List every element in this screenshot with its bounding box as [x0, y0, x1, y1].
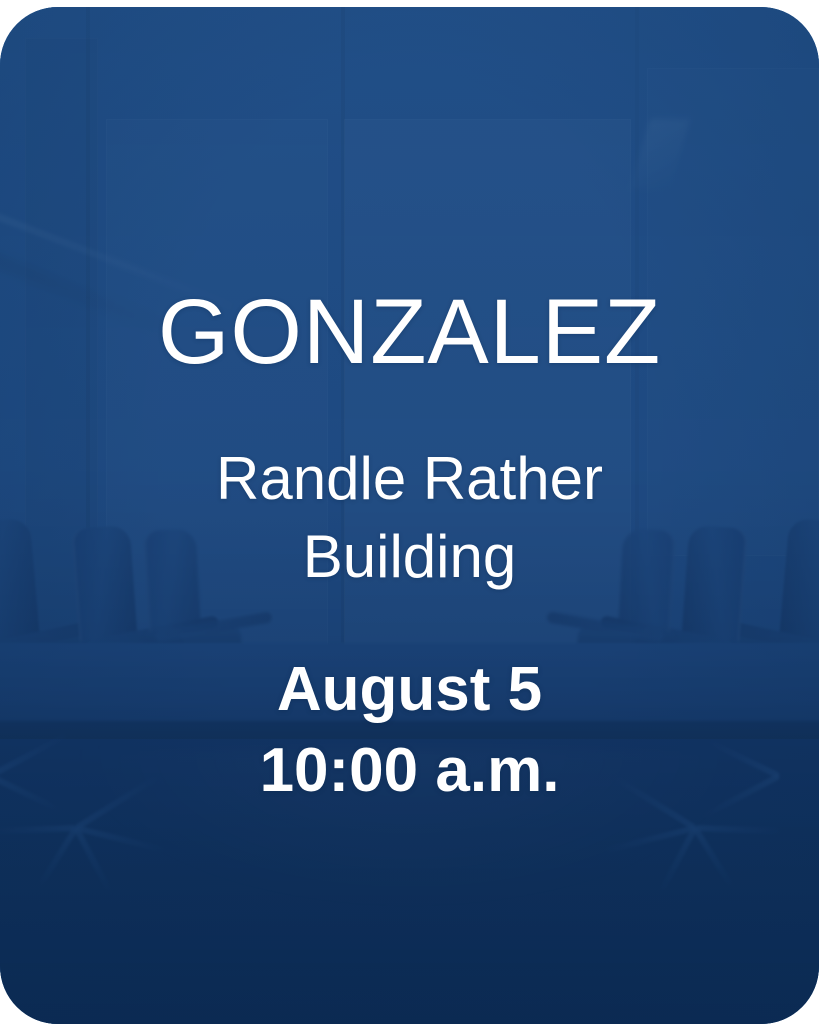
venue-name-heading: GONZALEZ	[158, 286, 661, 378]
event-announcement-card: GONZALEZ Randle Rather Building August 5…	[0, 7, 819, 1024]
event-date: August 5	[260, 650, 560, 731]
event-datetime: August 5 10:00 a.m.	[260, 650, 560, 811]
event-time: 10:00 a.m.	[260, 731, 560, 812]
building-name-subheading: Randle Rather Building	[130, 440, 690, 596]
card-content: GONZALEZ Randle Rather Building August 5…	[0, 7, 819, 1024]
